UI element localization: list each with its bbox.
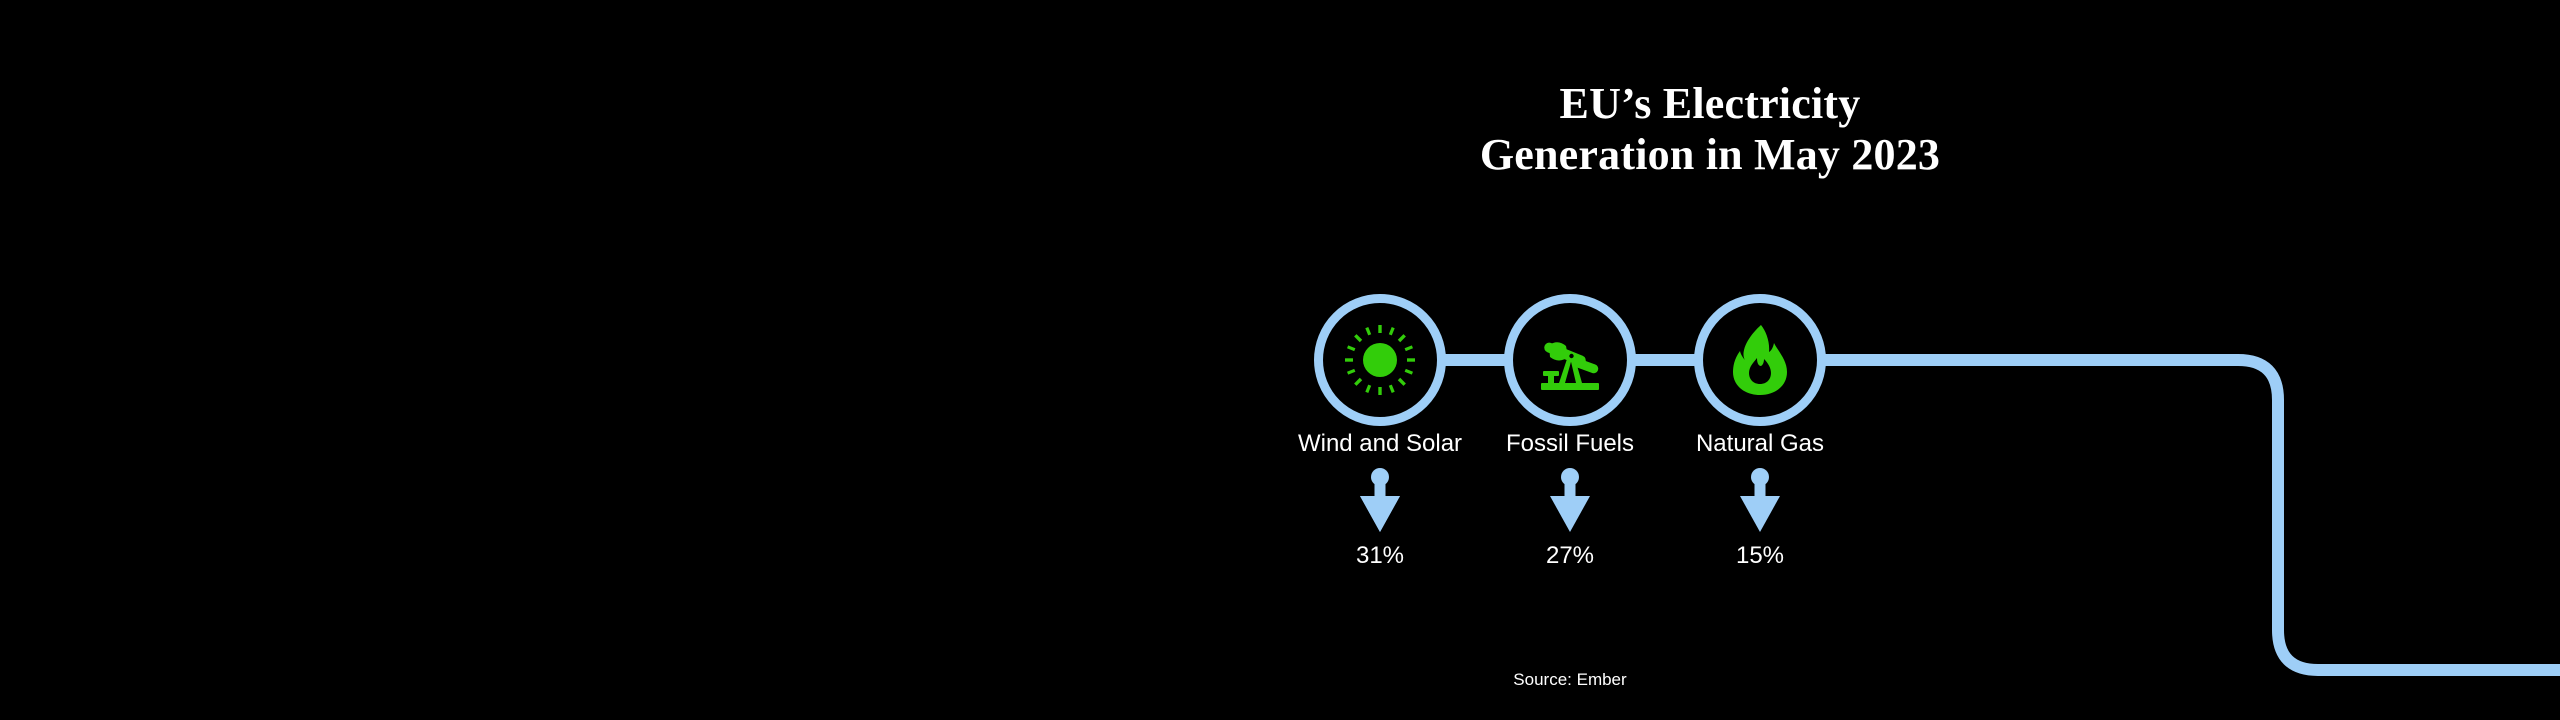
flame-icon: [1694, 294, 1826, 426]
title-line-1: EU’s Electricity: [1420, 78, 2000, 129]
infographic-canvas: EU’s Electricity Generation in May 2023: [0, 0, 2560, 720]
pipe-segment-3: [1820, 360, 2560, 670]
down-arrow-icon: [1610, 466, 1910, 536]
page-title: EU’s Electricity Generation in May 2023: [1420, 78, 2000, 180]
node-natural-gas[interactable]: [1694, 294, 1826, 426]
sun-icon: [1314, 294, 1446, 426]
source-attribution: Source: Ember: [1420, 670, 1720, 690]
metric-natural-gas: Natural Gas 15%: [1610, 430, 1910, 570]
node-fossil-fuels[interactable]: [1504, 294, 1636, 426]
title-line-2: Generation in May 2023: [1420, 129, 2000, 180]
metric-label: Natural Gas: [1610, 430, 1910, 458]
metric-value: 15%: [1610, 542, 1910, 570]
node-wind-and-solar[interactable]: [1314, 294, 1446, 426]
oil-pump-icon: [1504, 294, 1636, 426]
pipe-connector-network: [0, 0, 2560, 720]
